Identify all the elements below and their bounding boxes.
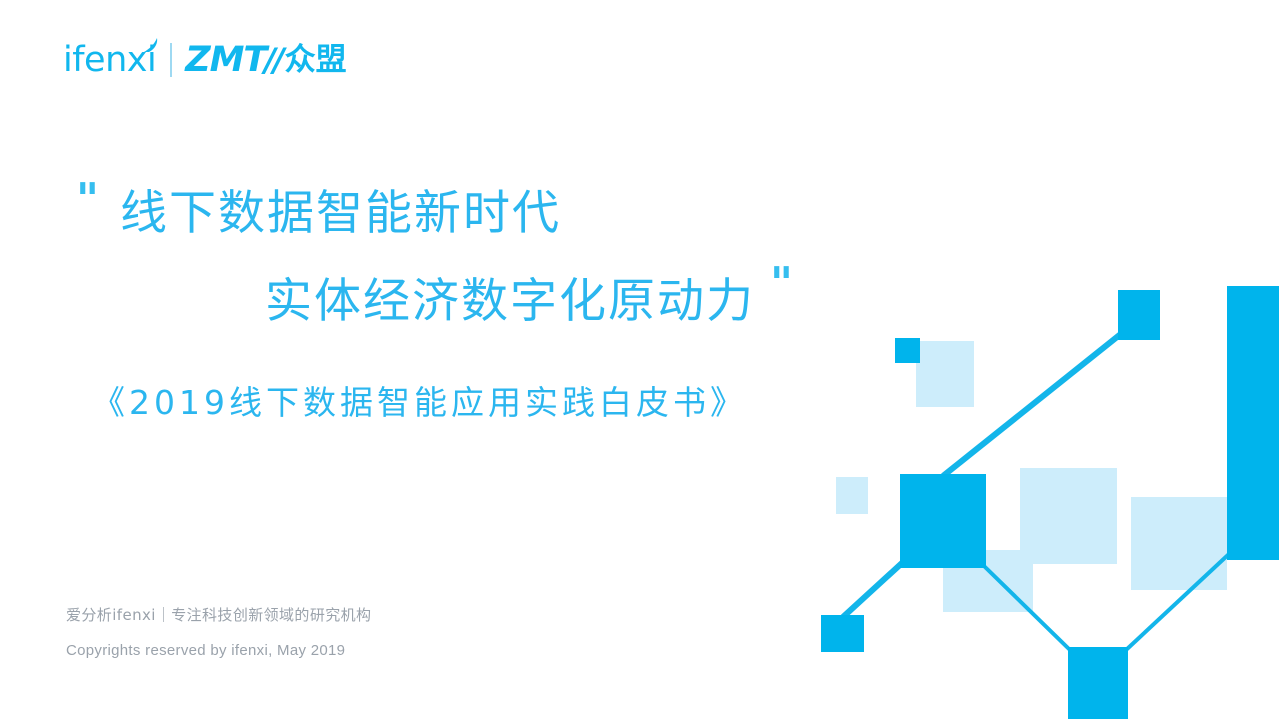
footer-block: 爱分析ifenxi｜专注科技创新领域的研究机构 Copyrights reser… (66, 605, 371, 661)
footer-tagline: 爱分析ifenxi｜专注科技创新领域的研究机构 (66, 605, 371, 626)
quote-close-mark: " (770, 262, 790, 306)
node-small-top (895, 338, 920, 363)
edge-center-to-topright (943, 333, 1122, 476)
edge-center-to-bottomleft (843, 563, 902, 617)
quote-open-mark: " (76, 178, 96, 222)
ifenxi-logo: ifenxi (63, 43, 160, 78)
zhongmeng-logo-text: 众盟 (285, 45, 347, 76)
node-bottom-left (821, 615, 864, 652)
footer-copyright: Copyrights reserved by ifenxi, May 2019 (66, 640, 371, 661)
light-square-top (916, 341, 974, 407)
logo-divider (170, 43, 172, 77)
light-square-mid-1 (1020, 468, 1117, 564)
zmt-logo-text: ZMT (185, 43, 266, 78)
report-subtitle: 《2019线下数据智能应用实践白皮书》 (92, 386, 747, 419)
title-line-2: 实体经济数字化原动力 (265, 278, 755, 325)
edge-bottomcenter-to-bar (1126, 554, 1229, 650)
slide-root: ifenxi ZMT // 众盟 " 线下数据智能新时代 实体经济数字化原动力 … (0, 0, 1279, 719)
bar-right (1227, 286, 1279, 560)
brand-logo-bar: ifenxi ZMT // 众盟 (63, 36, 347, 84)
edge-center-to-bottomcenter (984, 566, 1070, 650)
ifenxi-swoosh-icon (143, 38, 159, 54)
light-square-below-center (943, 550, 1033, 612)
node-top-right (1118, 290, 1160, 340)
light-square-left-small (836, 477, 868, 514)
node-bottom-center (1068, 647, 1128, 719)
light-square-mid-2 (1131, 497, 1227, 590)
zmt-slashes-icon: // (264, 44, 281, 76)
node-center (900, 474, 986, 568)
title-line-1: 线下数据智能新时代 (120, 190, 561, 237)
